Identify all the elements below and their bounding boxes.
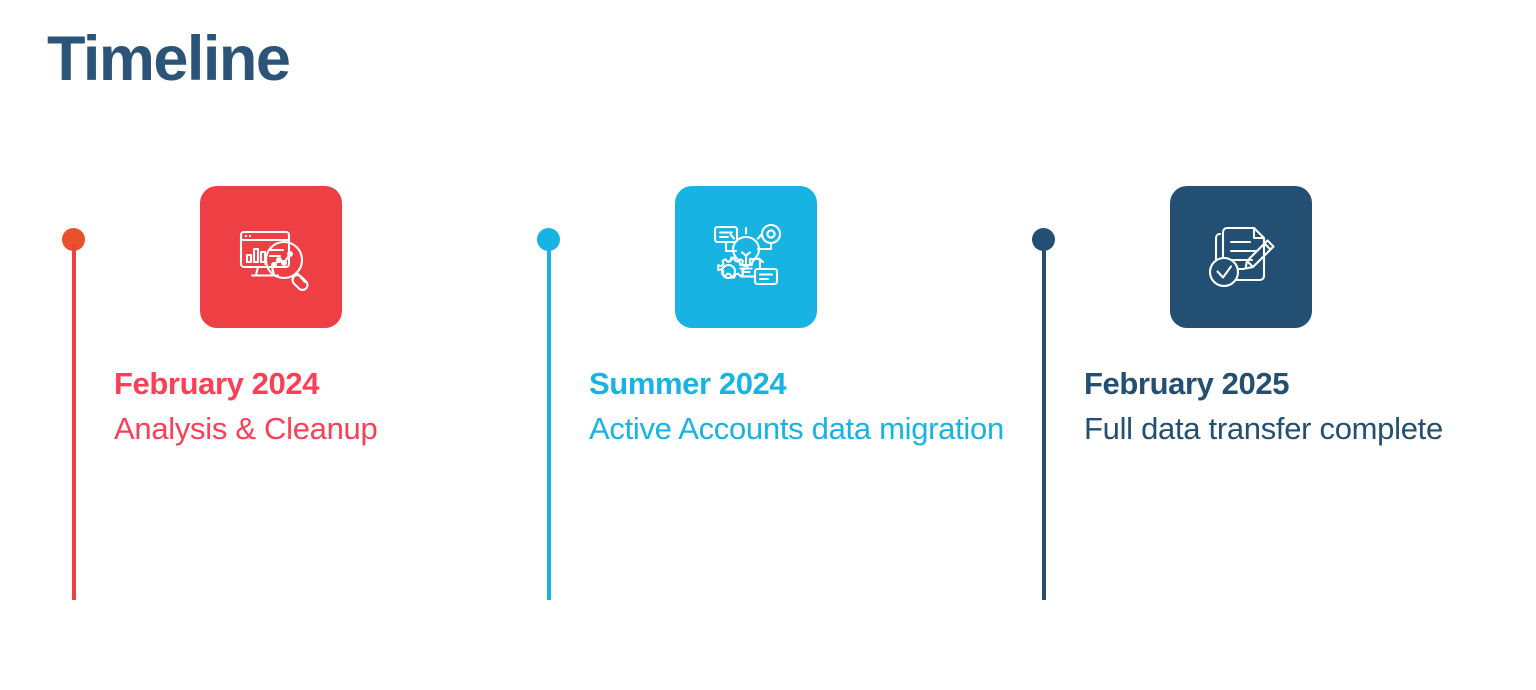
data-analysis-monitor-magnifier-icon [228,214,314,300]
milestone-description-3: Full data transfer complete [1084,408,1484,450]
timeline-marker-1 [62,228,86,600]
timeline-milestone-1: February 2024 Analysis & Cleanup [0,0,500,690]
timeline-line-1 [72,244,76,600]
milestone-icon-tile-1 [200,186,342,328]
milestone-description-1: Analysis & Cleanup [114,408,514,450]
milestone-text-1: February 2024 Analysis & Cleanup [114,366,514,449]
timeline-line-2 [547,244,551,600]
timeline: February 2024 Analysis & Cleanup [0,0,1536,690]
milestone-text-3: February 2025 Full data transfer complet… [1084,366,1484,449]
timeline-marker-3 [1032,228,1056,600]
milestone-icon-tile-2 [675,186,817,328]
timeline-line-3 [1042,244,1046,600]
milestone-text-2: Summer 2024 Active Accounts data migrati… [589,366,1009,449]
milestone-description-2: Active Accounts data migration [589,408,1009,450]
timeline-milestone-2: Summer 2024 Active Accounts data migrati… [475,0,975,690]
lightbulb-process-network-icon [703,214,789,300]
milestone-heading-3: February 2025 [1084,366,1484,402]
milestone-heading-2: Summer 2024 [589,366,1009,402]
milestone-icon-tile-3 [1170,186,1312,328]
timeline-marker-2 [537,228,561,600]
milestone-heading-1: February 2024 [114,366,514,402]
document-pencil-check-icon [1198,214,1284,300]
timeline-slide: Timeline [0,0,1536,690]
timeline-milestone-3: February 2025 Full data transfer complet… [970,0,1490,690]
